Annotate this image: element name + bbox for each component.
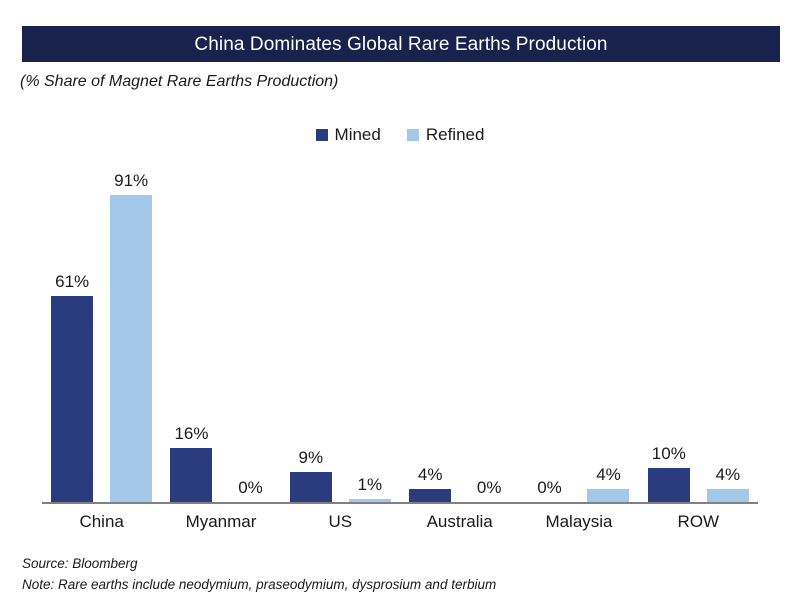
bar-value-label: 4% xyxy=(596,466,621,483)
chart-footnotes: Source: Bloomberg Note: Rare earths incl… xyxy=(22,554,762,596)
bar-rect xyxy=(110,195,152,502)
footnote-note: Note: Rare earths include neodymium, pra… xyxy=(22,575,762,596)
bar-rect xyxy=(349,499,391,502)
bar-mined-china[interactable]: 61% xyxy=(51,165,93,502)
bar-value-label: 1% xyxy=(358,476,383,493)
bar-rect xyxy=(290,472,332,502)
bar-refined-australia[interactable]: 0% xyxy=(468,165,510,502)
bar-refined-china[interactable]: 91% xyxy=(110,165,152,502)
x-tick-label-malaysia: Malaysia xyxy=(519,510,638,534)
bar-group-china: 61%91% xyxy=(42,165,161,502)
bar-value-label: 0% xyxy=(238,479,263,496)
x-tick-label-myanmar: Myanmar xyxy=(161,510,280,534)
bar-rect xyxy=(587,489,629,502)
bar-rect xyxy=(648,468,690,502)
x-tick-label-china: China xyxy=(42,510,161,534)
bar-group-malaysia: 0%4% xyxy=(519,165,638,502)
bar-rect xyxy=(707,489,749,502)
chart-title-banner: China Dominates Global Rare Earths Produ… xyxy=(22,26,780,62)
bar-value-label: 0% xyxy=(537,479,562,496)
bar-refined-malaysia[interactable]: 4% xyxy=(587,165,629,502)
bar-mined-malaysia[interactable]: 0% xyxy=(528,165,570,502)
x-tick-label-australia: Australia xyxy=(400,510,519,534)
bar-value-label: 91% xyxy=(114,172,148,189)
bar-mined-australia[interactable]: 4% xyxy=(409,165,451,502)
bar-value-label: 10% xyxy=(652,445,686,462)
bar-value-label: 16% xyxy=(174,425,208,442)
bar-refined-myanmar[interactable]: 0% xyxy=(229,165,271,502)
chart-legend: Mined Refined xyxy=(0,126,800,143)
square-swatch-icon-mined xyxy=(316,129,328,141)
bar-mined-myanmar[interactable]: 16% xyxy=(170,165,212,502)
bar-group-myanmar: 16%0% xyxy=(161,165,280,502)
bar-mined-row[interactable]: 10% xyxy=(648,165,690,502)
page-title: China Dominates Global Rare Earths Produ… xyxy=(194,35,607,54)
bar-refined-us[interactable]: 1% xyxy=(349,165,391,502)
chart-figure: China Dominates Global Rare Earths Produ… xyxy=(0,0,800,600)
legend-label-mined: Mined xyxy=(335,126,381,143)
bar-value-label: 4% xyxy=(418,466,443,483)
bar-group-row: 10%4% xyxy=(639,165,758,502)
chart-subtitle: (% Share of Magnet Rare Earths Productio… xyxy=(20,73,338,91)
legend-item-mined[interactable]: Mined xyxy=(316,126,381,143)
plot-area: 61%91%16%0%9%1%4%0%0%4%10%4% xyxy=(42,165,758,504)
bar-value-label: 4% xyxy=(716,466,741,483)
bar-value-label: 0% xyxy=(477,479,502,496)
footnote-source: Source: Bloomberg xyxy=(22,554,762,575)
bar-rect xyxy=(409,489,451,502)
bar-refined-row[interactable]: 4% xyxy=(707,165,749,502)
bar-value-label: 61% xyxy=(55,273,89,290)
bar-mined-us[interactable]: 9% xyxy=(290,165,332,502)
bar-rect xyxy=(170,448,212,502)
bar-rect xyxy=(51,296,93,502)
bar-group-us: 9%1% xyxy=(281,165,400,502)
bar-value-label: 9% xyxy=(299,449,324,466)
x-tick-label-row: ROW xyxy=(639,510,758,534)
bar-group-australia: 4%0% xyxy=(400,165,519,502)
x-axis-line xyxy=(42,502,758,504)
legend-label-refined: Refined xyxy=(426,126,485,143)
legend-item-refined[interactable]: Refined xyxy=(407,126,485,143)
x-tick-label-us: US xyxy=(281,510,400,534)
x-axis-category-labels: ChinaMyanmarUSAustraliaMalaysiaROW xyxy=(42,510,758,538)
square-swatch-icon-refined xyxy=(407,129,419,141)
